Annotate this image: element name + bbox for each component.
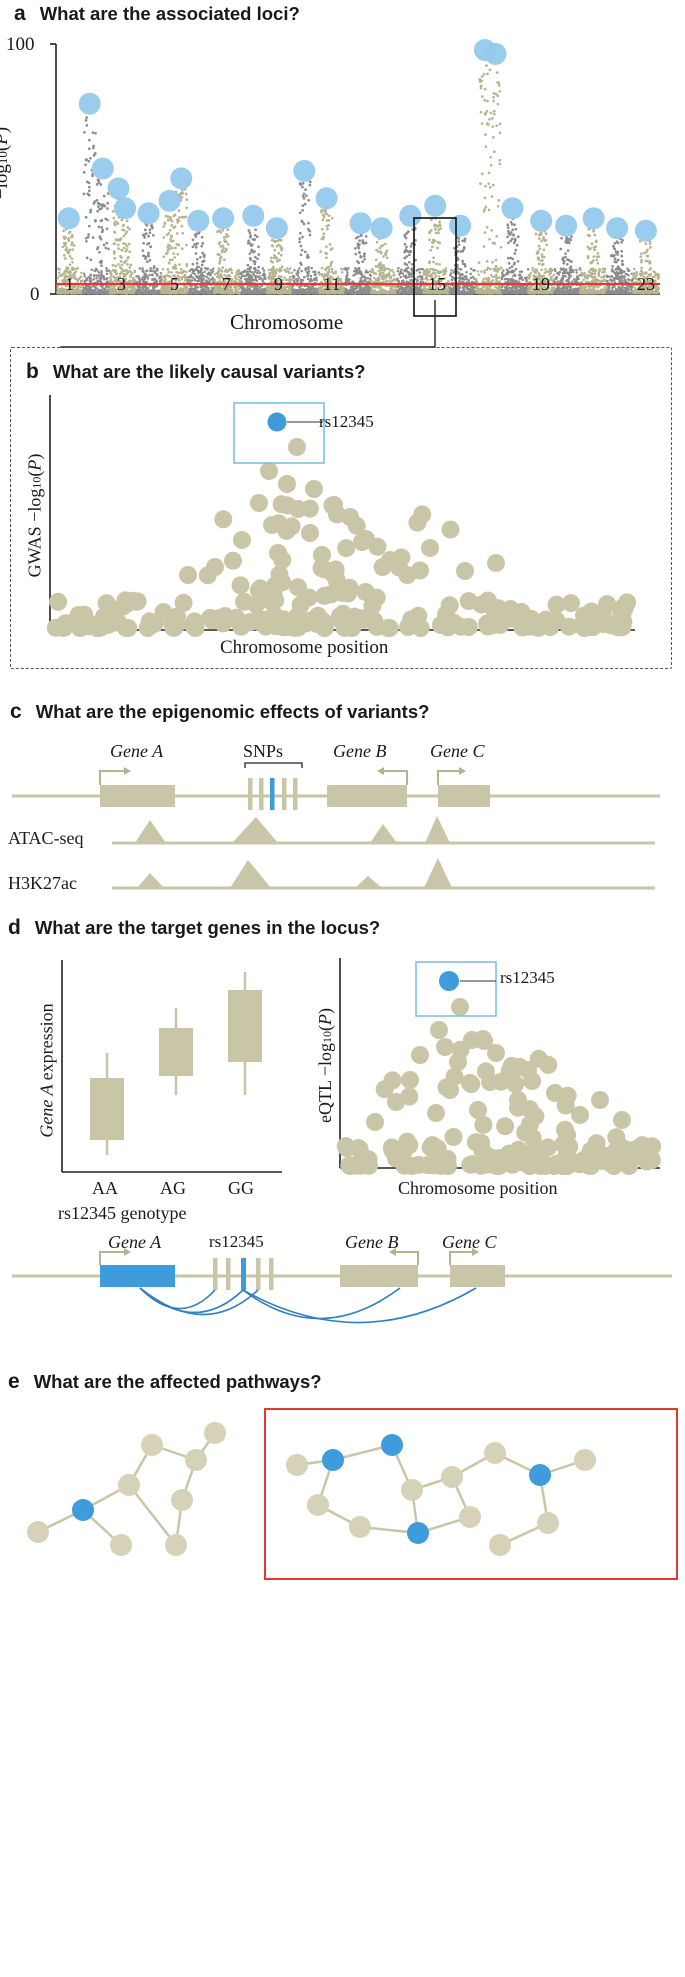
- panel-e-letter: e: [8, 1370, 20, 1394]
- panel-d-left-xlabel: rs12345 genotype: [58, 1203, 186, 1224]
- panel-d-letter: d: [8, 916, 21, 940]
- panel-d-title: What are the target genes in the locus?: [35, 917, 380, 939]
- panel-e-title: What are the affected pathways?: [34, 1371, 322, 1393]
- panel-e-networks: [0, 1405, 685, 1585]
- panel-b-letter: b: [26, 360, 39, 384]
- panel-b-title: What are the likely causal variants?: [53, 361, 366, 383]
- track-label-atac: ATAC-seq: [8, 828, 84, 849]
- genotype-aa: AA: [92, 1178, 118, 1199]
- panel-b-header: b What are the likely causal variants?: [26, 360, 365, 384]
- panel-c-diagram: [0, 738, 685, 898]
- genotype-gg: GG: [228, 1178, 254, 1199]
- panel-c-header: c What are the epigenomic effects of var…: [10, 700, 429, 724]
- panel-b-ylabel: GWAS −log10(P): [24, 454, 45, 578]
- panel-d-eqtl-plot: [300, 950, 685, 1210]
- track-label-h3k27ac: H3K27ac: [8, 873, 77, 894]
- gene-a-label-d: Gene A: [108, 1232, 161, 1253]
- panel-b-xlabel: Chromosome position: [220, 637, 388, 659]
- panel-d-left-ylabel: Gene A expression: [37, 1003, 58, 1137]
- gene-b-label-c: Gene B: [333, 741, 386, 762]
- panel-b-snp-label: rs12345: [319, 412, 374, 432]
- panel-c-title: What are the epigenomic effects of varia…: [36, 701, 430, 723]
- gene-a-label-c: Gene A: [110, 741, 163, 762]
- panel-d-right-xlabel: Chromosome position: [398, 1178, 558, 1199]
- genotype-ag: AG: [160, 1178, 186, 1199]
- gene-b-label-d: Gene B: [345, 1232, 398, 1253]
- gene-c-label-d: Gene C: [442, 1232, 496, 1253]
- gene-c-label-c: Gene C: [430, 741, 484, 762]
- panel-d-header: d What are the target genes in the locus…: [8, 916, 380, 940]
- panel-d-right-ylabel: eQTL −log10(P): [315, 1008, 336, 1123]
- rs12345-label-d: rs12345: [209, 1232, 264, 1252]
- panel-e-header: e What are the affected pathways?: [8, 1370, 322, 1394]
- panel-d-snp-label: rs12345: [500, 968, 555, 988]
- snps-label-c: SNPs: [243, 741, 283, 762]
- panel-d-gene-track: [0, 1228, 685, 1353]
- panel-c-letter: c: [10, 700, 22, 724]
